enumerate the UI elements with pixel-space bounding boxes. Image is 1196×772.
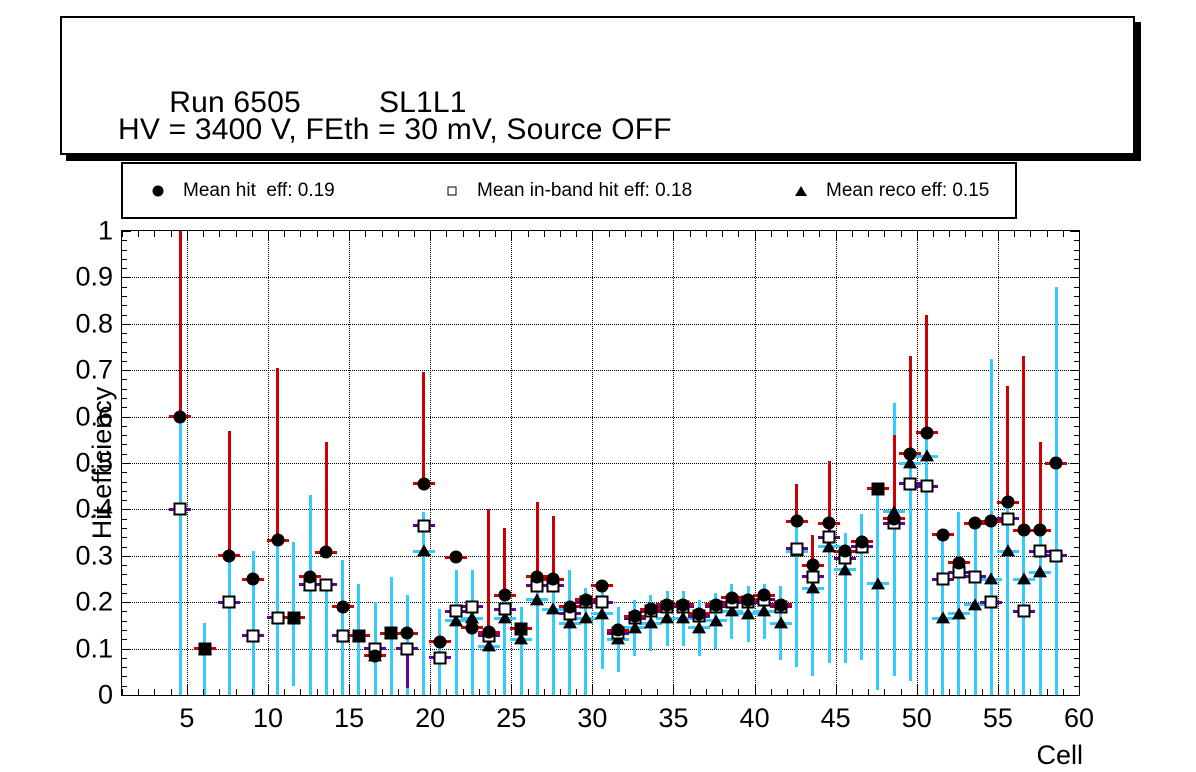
data-point-inband-eff [174,503,187,516]
y-axis-minor-tick [122,482,127,483]
y-axis-minor-tick [1074,519,1079,520]
x-axis-minor-tick [690,689,691,695]
error-bar [309,495,312,695]
error-bar [925,315,928,433]
x-axis-minor-tick [398,231,399,237]
data-point-reco-eff [838,563,852,575]
data-point-reco-eff [774,616,788,628]
x-axis-tick [511,231,512,241]
y-axis-minor-tick [122,444,127,445]
data-point-hit-eff [823,517,836,530]
plot-canvas: Run 6505SL1L1 HV = 3400 V, FEth = 30 mV,… [0,0,1196,772]
x-axis-minor-tick [852,231,853,237]
data-point-reco-eff [741,607,755,619]
data-point-inband-eff [466,600,479,613]
y-axis-minor-tick [122,287,127,288]
x-axis-title: Cell [1036,740,1083,771]
y-axis-tick-label: 0.5 [75,448,113,479]
y-axis-minor-tick [122,407,127,408]
y-axis-tick-label: 0.6 [75,401,113,432]
x-axis-minor-tick [690,231,691,237]
data-point-hit-eff [417,477,430,490]
gridline-vertical [511,231,512,695]
x-axis-minor-tick [122,689,123,695]
data-point-hit-eff [1001,496,1014,509]
y-axis-minor-tick [122,537,127,538]
x-axis-minor-tick [333,689,334,695]
data-point-inband-eff [790,542,803,555]
data-point-reco-eff [936,612,950,624]
data-point-inband-eff [1050,549,1063,562]
y-axis-minor-tick [122,435,127,436]
y-axis-minor-tick [1074,658,1079,659]
y-axis-minor-tick [1074,472,1079,473]
x-axis-minor-tick [884,689,885,695]
y-axis-tick [122,324,131,325]
y-axis-tick-label: 0 [98,680,113,711]
y-axis-minor-tick [122,686,127,687]
x-axis-minor-tick [528,231,529,237]
x-axis-minor-tick [122,231,123,237]
data-point-reco-eff [676,612,690,624]
y-axis-tick [122,417,131,418]
y-axis-tick [122,463,131,464]
error-bar [228,431,231,556]
data-point-inband-eff [320,578,333,591]
x-axis-minor-tick [901,231,902,237]
error-bar [276,368,279,541]
x-axis-tick-label: 35 [658,703,688,734]
y-axis-minor-tick [122,454,127,455]
y-axis-minor-tick [122,593,127,594]
y-axis-minor-tick [1074,584,1079,585]
x-axis-minor-tick [771,231,772,237]
data-point-hit-eff [644,603,657,616]
data-point-reco-eff [660,612,674,624]
y-axis-tick-label: 0.3 [75,540,113,571]
x-axis-tick [755,231,756,241]
data-point-hit-eff [223,549,236,562]
x-axis-minor-tick [803,689,804,695]
x-axis-tick [917,231,918,241]
y-axis-tick [122,556,131,557]
x-axis-minor-tick [787,231,788,237]
x-axis-tick [268,685,269,695]
y-axis-minor-tick [1074,574,1079,575]
x-axis-minor-tick [560,689,561,695]
data-point-reco-eff [984,572,998,584]
error-bar [203,623,206,695]
y-axis-tick [122,370,131,371]
y-axis-minor-tick [122,333,127,334]
data-point-inband-eff [336,629,349,642]
y-axis-minor-tick [1074,305,1079,306]
x-axis-tick [917,685,918,695]
y-axis-minor-tick [1074,528,1079,529]
filled-circle-marker-icon [147,180,169,202]
data-point-hit-eff [952,556,965,569]
x-axis-minor-tick [982,231,983,237]
y-axis-minor-tick [122,658,127,659]
x-axis-minor-tick [819,689,820,695]
data-point-inband-eff [904,477,917,490]
x-axis-tick [998,231,999,241]
legend-label-hit: Mean hit eff: 0.19 [183,180,335,202]
y-axis-tick [1070,277,1079,278]
data-point-inband-eff [936,573,949,586]
title-line-conditions: HV = 3400 V, FEth = 30 mV, Source OFF [118,113,672,147]
y-axis-minor-tick [122,389,127,390]
data-point-hit-eff [612,624,625,637]
x-axis-minor-tick [901,689,902,695]
y-axis-minor-tick [122,667,127,668]
y-axis-minor-tick [122,630,127,631]
y-axis-minor-tick [1074,500,1079,501]
x-axis-minor-tick [317,689,318,695]
x-axis-tick [592,231,593,241]
x-axis-minor-tick [965,689,966,695]
x-axis-minor-tick [949,689,950,695]
x-axis-minor-tick [300,231,301,237]
data-point-hit-eff [985,515,998,528]
x-axis-minor-tick [576,689,577,695]
x-axis-minor-tick [819,231,820,237]
data-point-hit-eff [287,611,300,624]
data-point-hit-eff [661,598,674,611]
x-axis-minor-tick [1030,231,1031,237]
data-point-reco-eff [952,607,966,619]
x-axis-tick [673,685,674,695]
x-axis-minor-tick [365,689,366,695]
gridline-horizontal [122,277,1079,278]
data-point-inband-eff [401,642,414,655]
y-axis-minor-tick [1074,315,1079,316]
x-axis-minor-tick [803,231,804,237]
y-axis-tick [122,649,131,650]
y-axis-minor-tick [1074,426,1079,427]
x-axis-minor-tick [657,231,658,237]
x-axis-tick-label: 20 [415,703,445,734]
x-axis-minor-tick [641,689,642,695]
error-bar [179,231,182,417]
data-point-hit-eff [515,622,528,635]
legend: Mean hit eff: 0.19 Mean in-band hit eff:… [121,162,1017,219]
x-axis-minor-tick [771,689,772,695]
data-point-reco-eff [417,545,431,557]
data-point-reco-eff [757,605,771,617]
data-point-inband-eff [806,570,819,583]
data-point-reco-eff [595,607,609,619]
x-axis-tick [268,231,269,241]
error-bar [1006,386,1009,502]
x-axis-minor-tick [203,689,204,695]
x-axis-minor-tick [171,231,172,237]
y-axis-minor-tick [122,398,127,399]
data-point-hit-eff [790,515,803,528]
y-axis-minor-tick [122,472,127,473]
filled-triangle-marker-icon [790,180,812,202]
x-axis-minor-tick [949,231,950,237]
x-axis-minor-tick [236,231,237,237]
y-axis-minor-tick [122,240,127,241]
gridline-vertical [755,231,756,695]
gridline-vertical [187,231,188,695]
x-axis-minor-tick [609,689,610,695]
x-axis-minor-tick [495,231,496,237]
x-axis-tick [511,685,512,695]
y-axis-tick [122,231,131,232]
y-axis-minor-tick [1074,565,1079,566]
x-axis-minor-tick [1047,689,1048,695]
x-axis-minor-tick [414,231,415,237]
error-bar [341,560,344,695]
x-axis-minor-tick [528,689,529,695]
data-point-inband-eff [596,596,609,609]
y-axis-tick [122,602,131,603]
data-point-hit-eff [888,512,901,525]
x-axis-minor-tick [463,689,464,695]
data-point-inband-eff [417,519,430,532]
y-axis-tick [1070,370,1079,371]
error-bar [909,356,912,453]
x-axis-minor-tick [868,689,869,695]
y-axis-minor-tick [1074,676,1079,677]
y-axis-minor-tick [122,361,127,362]
x-axis-tick [1079,685,1080,695]
y-axis-tick [1070,556,1079,557]
x-axis-minor-tick [317,231,318,237]
x-axis-tick-label: 40 [740,703,770,734]
data-point-hit-eff [628,610,641,623]
data-point-hit-eff [806,559,819,572]
y-axis-minor-tick [1074,630,1079,631]
data-point-reco-eff [644,616,658,628]
data-point-inband-eff [271,611,284,624]
data-point-hit-eff [336,600,349,613]
y-axis-minor-tick [122,305,127,306]
data-point-hit-eff [969,517,982,530]
y-axis-minor-tick [1074,435,1079,436]
y-axis-minor-tick [122,639,127,640]
y-axis-minor-tick [1074,268,1079,269]
y-axis-tick [122,695,131,696]
x-axis-tick [349,685,350,695]
data-point-inband-eff [969,570,982,583]
x-axis-minor-tick [252,689,253,695]
y-axis-minor-tick [122,584,127,585]
data-point-hit-eff [369,649,382,662]
y-axis-minor-tick [122,296,127,297]
x-axis-minor-tick [738,231,739,237]
open-square-marker-icon [441,180,463,202]
data-point-reco-eff [1033,565,1047,577]
x-axis-minor-tick [625,689,626,695]
x-axis-minor-tick [236,689,237,695]
error-bar [1039,509,1042,695]
x-axis-tick [349,231,350,241]
y-axis-minor-tick [1074,454,1079,455]
y-axis-tick-label: 0.2 [75,587,113,618]
data-point-inband-eff [823,531,836,544]
x-axis-minor-tick [446,231,447,237]
data-point-hit-eff [693,607,706,620]
x-axis-minor-tick [641,231,642,237]
y-axis-tick [1070,602,1079,603]
error-bar [455,570,458,695]
data-point-reco-eff [579,612,593,624]
data-point-inband-eff [247,629,260,642]
x-axis-minor-tick [333,231,334,237]
data-point-hit-eff [433,635,446,648]
data-point-hit-eff [401,627,414,640]
data-point-hit-eff [563,600,576,613]
x-axis-minor-tick [252,231,253,237]
error-bar [487,509,490,632]
x-axis-minor-tick [868,231,869,237]
data-point-hit-eff [742,593,755,606]
y-axis-minor-tick [122,491,127,492]
x-axis-minor-tick [284,689,285,695]
plot-frame: Hit efficiency Cell 00.10.20.30.40.50.60… [121,230,1080,696]
x-axis-minor-tick [576,231,577,237]
y-axis-minor-tick [122,426,127,427]
y-axis-minor-tick [122,519,127,520]
gridline-horizontal [122,370,1079,371]
y-axis-minor-tick [1074,398,1079,399]
data-point-hit-eff [385,627,398,640]
y-axis-minor-tick [122,379,127,380]
data-point-inband-eff [450,605,463,618]
error-bar [876,491,879,691]
data-point-hit-eff [531,570,544,583]
x-axis-tick-label: 15 [334,703,364,734]
x-axis-tick-label: 45 [821,703,851,734]
x-axis-minor-tick [1047,231,1048,237]
y-axis-minor-tick [1074,491,1079,492]
x-axis-minor-tick [414,689,415,695]
legend-entry-reco: Mean reco eff: 0.15 [790,164,989,217]
gridline-vertical [592,231,593,695]
x-axis-tick [592,685,593,695]
x-axis-minor-tick [463,231,464,237]
x-axis-tick [755,685,756,695]
legend-label-inband: Mean in-band hit eff: 0.18 [477,180,692,202]
y-axis-tick [122,509,131,510]
x-axis-minor-tick [982,689,983,695]
data-point-hit-eff [709,598,722,611]
y-axis-tick-label: 0.1 [75,633,113,664]
data-point-hit-eff [871,482,884,495]
error-bar [422,372,425,484]
y-axis-minor-tick [1074,379,1079,380]
x-axis-tick [836,685,837,695]
y-axis-minor-tick [122,528,127,529]
data-point-hit-eff [725,591,738,604]
y-axis-tick-label: 0.9 [75,262,113,293]
data-point-inband-eff [920,480,933,493]
data-point-reco-eff [530,593,544,605]
gridline-vertical [430,231,431,695]
data-point-inband-eff [433,651,446,664]
data-point-inband-eff [1034,545,1047,558]
y-axis-minor-tick [1074,333,1079,334]
data-point-hit-eff [352,629,365,642]
x-axis-minor-tick [203,231,204,237]
y-axis-minor-tick [1074,593,1079,594]
x-axis-minor-tick [560,231,561,237]
x-axis-tick-label: 10 [253,703,283,734]
data-point-reco-eff [1001,545,1015,557]
data-point-hit-eff [547,573,560,586]
x-axis-minor-tick [609,231,610,237]
y-axis-minor-tick [1074,287,1079,288]
x-axis-minor-tick [219,231,220,237]
x-axis-minor-tick [722,689,723,695]
x-axis-minor-tick [722,231,723,237]
y-axis-minor-tick [1074,352,1079,353]
error-bar [568,570,571,695]
x-axis-minor-tick [495,689,496,695]
data-point-reco-eff [692,621,706,633]
data-point-hit-eff [482,626,495,639]
data-point-hit-eff [677,598,690,611]
legend-entry-hit: Mean hit eff: 0.19 [147,164,335,217]
y-axis-minor-tick [122,621,127,622]
plot-area [122,231,1079,695]
data-point-hit-eff [320,546,333,559]
y-axis-minor-tick [122,565,127,566]
error-bar [552,516,555,579]
error-bar [974,528,977,695]
title-box: Run 6505SL1L1 HV = 3400 V, FEth = 30 mV,… [60,16,1135,155]
data-point-hit-eff [936,528,949,541]
data-point-inband-eff [1001,512,1014,525]
gridline-horizontal [122,556,1079,557]
y-axis-minor-tick [1074,389,1079,390]
data-point-hit-eff [579,593,592,606]
y-axis-minor-tick [122,315,127,316]
x-axis-tick-label: 30 [577,703,607,734]
y-axis-minor-tick [122,259,127,260]
x-axis-minor-tick [479,689,480,695]
x-axis-tick [1079,231,1080,241]
error-bar [325,442,328,552]
x-axis-minor-tick [933,231,934,237]
y-axis-minor-tick [1074,667,1079,668]
y-axis-tick [1070,509,1079,510]
x-axis-minor-tick [1030,689,1031,695]
x-axis-minor-tick [1014,231,1015,237]
x-axis-minor-tick [706,231,707,237]
gridline-horizontal [122,509,1079,510]
error-bar [828,461,831,524]
x-axis-minor-tick [787,689,788,695]
y-axis-tick [122,277,131,278]
x-axis-minor-tick [852,689,853,695]
data-point-hit-eff [498,589,511,602]
y-axis-tick-label: 0.4 [75,494,113,525]
gridline-horizontal [122,463,1079,464]
y-axis-minor-tick [1074,250,1079,251]
data-point-hit-eff [904,447,917,460]
y-axis-tick [1070,231,1079,232]
x-axis-minor-tick [479,231,480,237]
y-axis-minor-tick [1074,611,1079,612]
y-axis-minor-tick [122,342,127,343]
data-point-hit-eff [1017,524,1030,537]
x-axis-tick [187,231,188,241]
y-axis-minor-tick [1074,361,1079,362]
